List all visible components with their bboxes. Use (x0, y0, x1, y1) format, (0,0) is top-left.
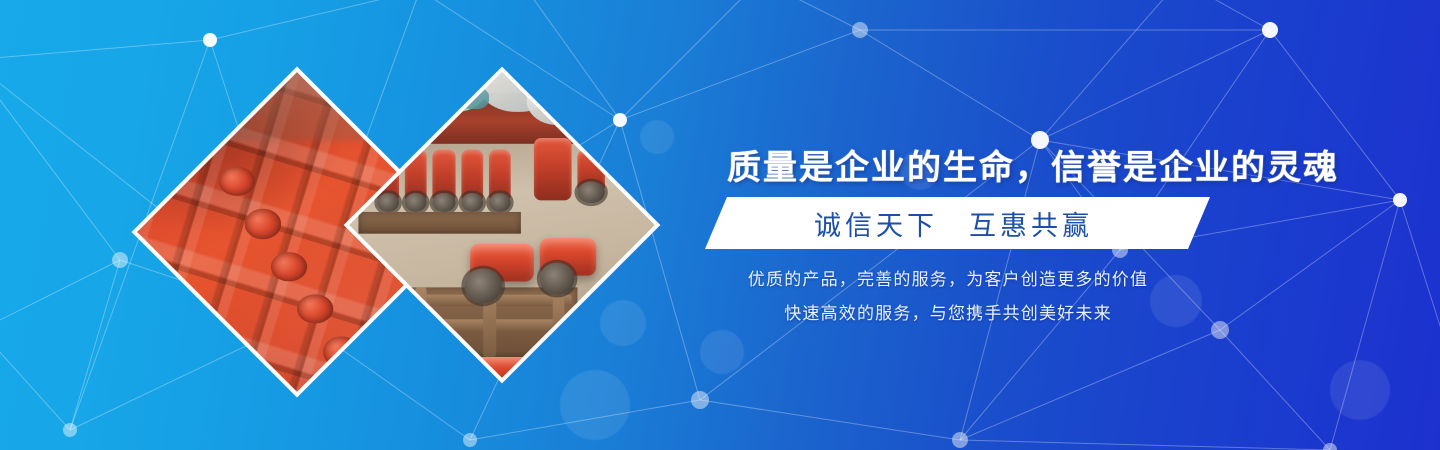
shaft-flange (433, 194, 455, 213)
shaft-joint (192, 124, 225, 150)
wrapped-sack (527, 75, 590, 125)
slogan-ribbon-text: 诚信天下 互惠共赢 (814, 204, 1093, 243)
shaft-joint (323, 337, 359, 366)
image-inner (349, 72, 654, 377)
shaft-flange (489, 194, 511, 213)
shaft-flange (464, 269, 502, 303)
banner-headline: 质量是企业的生命，信誉是企业的灵魂 (727, 140, 1339, 189)
glow-blob (700, 330, 744, 374)
large-shaft (439, 357, 545, 378)
pallet-slat (552, 288, 565, 357)
body-line-2: 快速高效的服务，与您携手共创美好未来 (722, 297, 1174, 331)
glow-blob (600, 300, 646, 346)
shaft-flange (540, 263, 574, 294)
shaft-joint (271, 252, 307, 281)
banner-body-text: 优质的产品，完善的服务，为客户创造更多的价值 快速高效的服务，与您携手共创美好未… (722, 263, 1174, 331)
shaft-joint (218, 166, 254, 195)
shaft-joint (245, 209, 281, 238)
pallet-slat (414, 288, 427, 357)
teal-wrap (458, 87, 489, 109)
slogan-ribbon: 诚信天下 互惠共赢 (705, 197, 1210, 249)
body-line-1: 优质的产品，完善的服务，为客户创造更多的价值 (722, 263, 1174, 297)
promo-banner: 质量是企业的生命，信誉是企业的灵魂 诚信天下 互惠共赢 优质的产品，完善的服务，… (0, 0, 1440, 450)
product-image-pallet-shafts (349, 72, 654, 377)
photo-shafts-on-pallets (349, 72, 654, 377)
shaft-flange (577, 181, 605, 203)
teal-wrap (399, 106, 427, 125)
shaft-flange (377, 194, 399, 213)
wooden-pallet (358, 212, 521, 234)
shaft-tube (533, 137, 571, 200)
shaft-flange (461, 194, 483, 213)
glow-blob (1330, 360, 1390, 420)
shaft-flange (405, 194, 427, 213)
glow-blob (640, 120, 674, 154)
glow-blob (560, 370, 630, 440)
floor-band (137, 72, 457, 140)
shaft-joint (297, 294, 333, 323)
